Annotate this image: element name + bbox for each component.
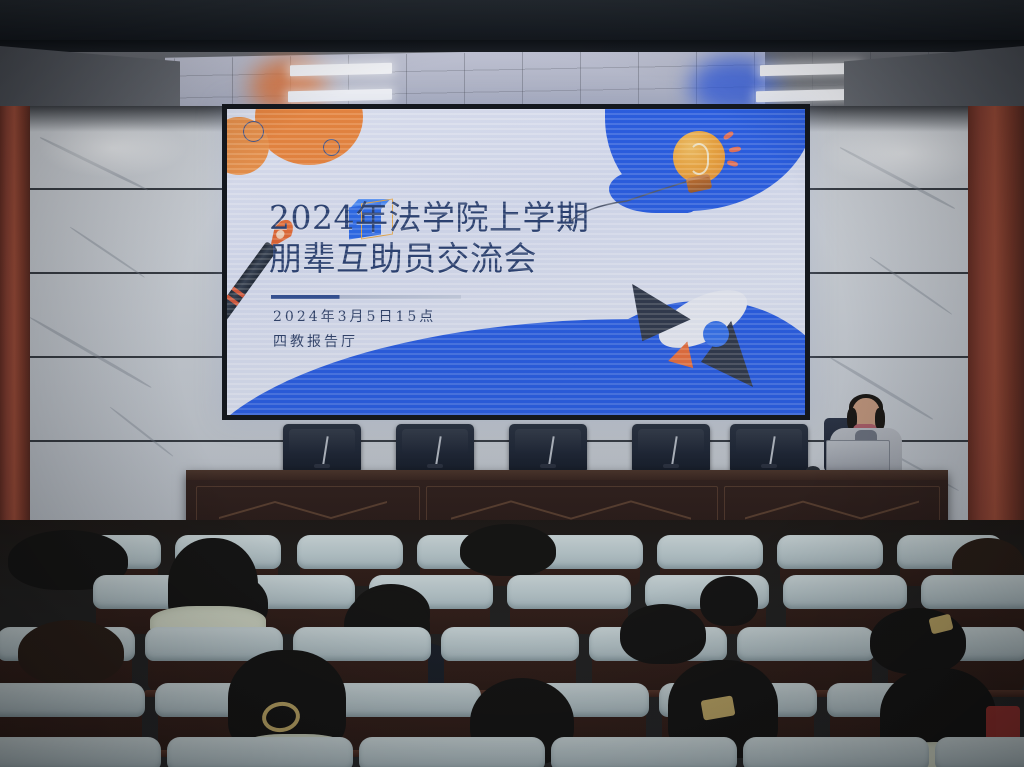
- wall-column-left: [0, 106, 30, 526]
- slide-title-divider: [271, 295, 461, 299]
- seat: [170, 746, 350, 767]
- seat-headrest: [657, 535, 763, 569]
- auditorium-seating: [0, 520, 1024, 767]
- slide-subtitle: 2024年3月5日15点 四教报告厅: [273, 305, 436, 355]
- seat: [938, 746, 1024, 767]
- seat-headrest: [359, 737, 545, 767]
- slide-title-line-1: 2024年法学院上学期: [269, 197, 589, 238]
- slide-canvas: 2024年法学院上学期 朋辈互助员交流会 2024年3月5日15点 四教报告厅: [227, 109, 805, 415]
- microphone-base: [540, 464, 556, 468]
- slide-title: 2024年法学院上学期 朋辈互助员交流会: [269, 197, 589, 279]
- seat-headrest: [297, 535, 403, 569]
- seated-attendee-head: [460, 524, 556, 576]
- lightbulb-icon: [669, 131, 729, 205]
- seated-attendee-head: [700, 576, 758, 626]
- slide-subtitle-datetime: 2024年3月5日15点: [273, 305, 436, 330]
- seat-headrest: [551, 737, 737, 767]
- seat: [362, 746, 542, 767]
- seat-headrest: [323, 683, 481, 717]
- seat-headrest: [743, 737, 929, 767]
- bulb-base: [686, 174, 713, 194]
- microphone-base: [663, 464, 679, 468]
- seated-attendee-head: [18, 620, 124, 684]
- seat-headrest: [935, 737, 1024, 767]
- seat: [746, 746, 926, 767]
- seat-headrest: [777, 535, 883, 569]
- seat-headrest: [737, 627, 875, 661]
- seat-headrest: [441, 627, 579, 661]
- photo-scene: 2024年法学院上学期 朋辈互助员交流会 2024年3月5日15点 四教报告厅: [0, 0, 1024, 767]
- seat-headrest: [167, 737, 353, 767]
- table-top-edge: [186, 470, 948, 480]
- projection-screen: 2024年法学院上学期 朋辈互助员交流会 2024年3月5日15点 四教报告厅: [222, 104, 810, 420]
- slide-title-line-2: 朋辈互助员交流会: [269, 238, 589, 279]
- seat-headrest: [507, 575, 631, 609]
- seat-headrest: [0, 737, 161, 767]
- seated-attendee-head: [620, 604, 706, 664]
- seat: [554, 746, 734, 767]
- seat: [0, 746, 158, 767]
- slide-subtitle-venue: 四教报告厅: [273, 330, 436, 355]
- microphone-base: [314, 464, 330, 468]
- bulb-filament: [689, 143, 709, 175]
- microphone-base: [761, 464, 777, 468]
- seat-headrest: [921, 575, 1024, 609]
- wall-column-right: [968, 106, 1024, 526]
- seat-headrest: [0, 683, 145, 717]
- microphone-base: [427, 464, 443, 468]
- seated-attendee-head: [870, 608, 966, 674]
- seat-headrest: [783, 575, 907, 609]
